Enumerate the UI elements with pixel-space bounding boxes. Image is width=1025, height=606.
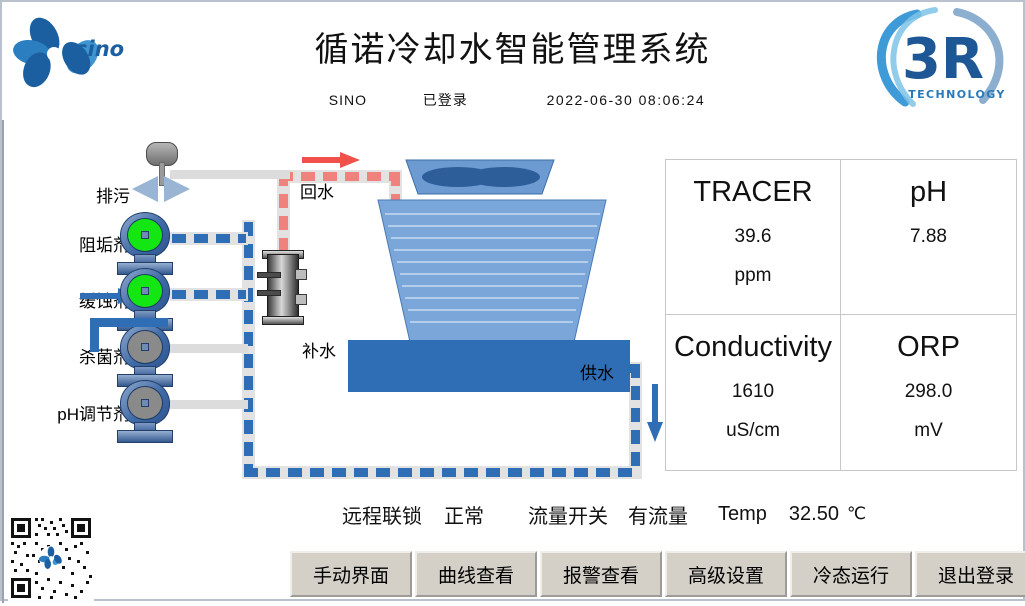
dose-pipe-ph-adjuster <box>170 400 248 409</box>
pump-shaft-icon <box>141 287 149 295</box>
blowdown-valve[interactable] <box>128 142 194 204</box>
status-row: 远程联锁 正常 流量开关 有流量 Temp 32.50 ℃ <box>342 499 1012 529</box>
3r-logo-subtext: TECHNOLOGY <box>908 88 1006 101</box>
cooling-tower <box>342 152 642 442</box>
measurement-card-orp: ORP 298.0 mV <box>841 315 1016 470</box>
measurement-name: ORP <box>897 329 960 365</box>
current-user: SINO <box>320 92 376 108</box>
analyzer-nozzle-icon <box>295 294 307 305</box>
manual-interface-button[interactable]: 手动界面 <box>290 551 412 597</box>
measurement-panel: TRACER 39.6 ppm pH 7.88 Conductivity 161… <box>665 159 1017 471</box>
analyzer-probe-icon <box>257 290 281 296</box>
pump-shaft-icon <box>141 343 149 351</box>
measurement-unit: mV <box>914 420 943 442</box>
measurement-unit: uS/cm <box>726 420 780 442</box>
measurement-card-tracer: TRACER 39.6 ppm <box>666 160 841 315</box>
bottom-toolbar: 手动界面 曲线查看 报警查看 高级设置 冷态运行 退出登录 <box>290 551 1025 597</box>
remote-interlock-value: 正常 <box>444 500 484 529</box>
cold-start-button[interactable]: 冷态运行 <box>790 551 912 597</box>
measurement-value: 298.0 <box>905 381 953 403</box>
dose-pipe-biocide <box>170 344 248 353</box>
measurement-card-ph: pH 7.88 <box>841 160 1016 315</box>
measurement-value: 7.88 <box>910 226 947 248</box>
dose-pipe-corrosion-inhibitor <box>172 290 246 299</box>
flow-switch-label: 流量开关 <box>528 500 608 529</box>
temperature-value: 32.50 <box>789 503 839 526</box>
measurement-name: TRACER <box>693 174 812 210</box>
label-supply-water: 供水 <box>580 359 614 384</box>
valve-right-cone-icon <box>164 176 190 202</box>
measurement-value: 1610 <box>732 381 774 403</box>
temperature-unit: ℃ <box>847 504 866 524</box>
pump-scale-inhibitor[interactable] <box>116 212 172 274</box>
dose-pipe-scale-inhibitor <box>172 234 246 243</box>
process-diagram: 回水 补水 供水 <box>2 122 662 482</box>
measurement-card-conductivity: Conductivity 1610 uS/cm <box>666 315 841 470</box>
temperature-label: Temp <box>718 503 767 526</box>
pump-ph-adjuster[interactable] <box>116 380 172 442</box>
alarm-view-button[interactable]: 报警查看 <box>540 551 662 597</box>
valve-left-cone-icon <box>132 176 158 202</box>
qr-code[interactable] <box>8 515 94 601</box>
makeup-pipe-horizontal <box>90 318 168 327</box>
loop-pipe-bottom <box>244 468 640 477</box>
system-datetime: 2022-06-30 08:06:24 <box>547 92 706 108</box>
supply-flow-arrow <box>645 384 665 444</box>
label-return-water: 回水 <box>300 178 334 203</box>
application-window: sino 循诺冷却水智能管理系统 SINO 已登录 2022-06-30 08:… <box>0 0 1025 601</box>
tower-fan-blade-icon <box>468 167 540 187</box>
pump-shaft-icon <box>141 231 149 239</box>
analyzer-nozzle-icon <box>295 269 307 280</box>
measurement-name: Conductivity <box>674 329 832 365</box>
measurement-value: 39.6 <box>735 226 772 248</box>
analyzer-probe-icon <box>257 272 281 278</box>
advanced-settings-button[interactable]: 高级设置 <box>665 551 787 597</box>
3r-logo-text: 3R <box>902 27 984 92</box>
login-status: 已登录 <box>423 90 468 110</box>
trend-curve-button[interactable]: 曲线查看 <box>415 551 537 597</box>
pump-shaft-icon <box>141 399 149 407</box>
sensor-analyzer-chamber[interactable] <box>257 244 307 330</box>
header-bar: sino 循诺冷却水智能管理系统 SINO 已登录 2022-06-30 08:… <box>2 2 1023 122</box>
remote-interlock-label: 远程联锁 <box>342 500 422 529</box>
pump-biocide[interactable] <box>116 324 172 386</box>
measurement-unit: ppm <box>735 265 772 287</box>
tower-shell-icon <box>378 200 606 342</box>
analyzer-body-icon <box>267 254 299 320</box>
3r-technology-logo: 3R TECHNOLOGY <box>865 4 1015 116</box>
measurement-name: pH <box>910 174 947 210</box>
logout-button[interactable]: 退出登录 <box>915 551 1025 597</box>
analyzer-bottom-flange-icon <box>262 316 304 325</box>
pump-base-icon <box>117 430 173 443</box>
flow-switch-value: 有流量 <box>628 500 688 529</box>
label-makeup-water: 补水 <box>302 337 336 362</box>
